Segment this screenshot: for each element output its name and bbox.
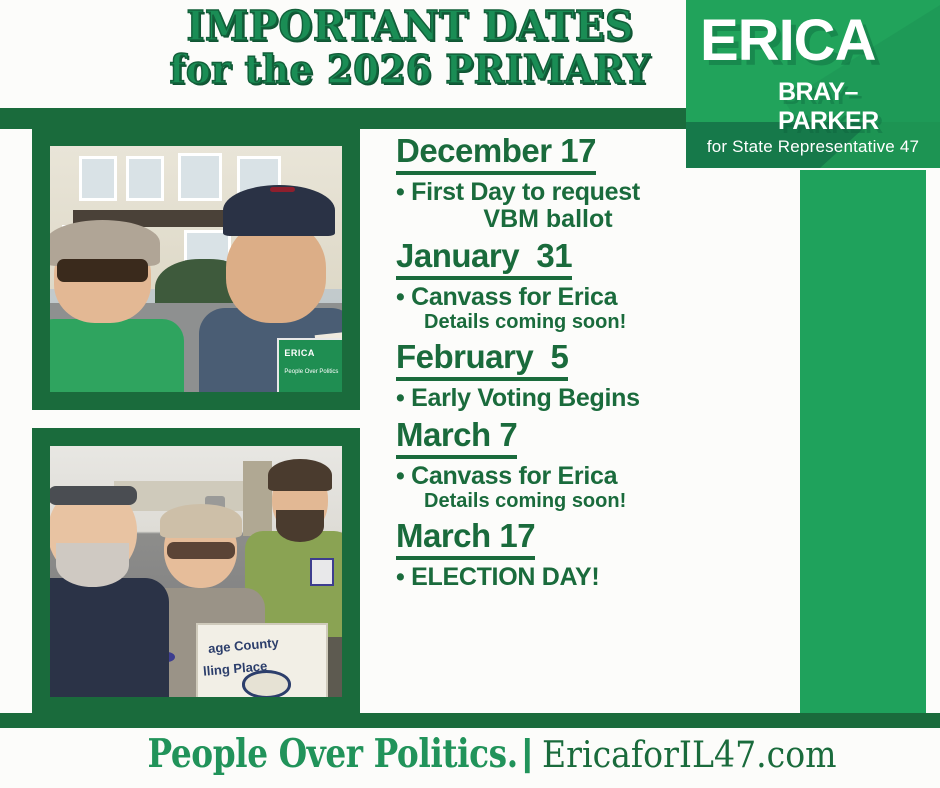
page-title: IMPORTANT DATES for the 2026 PRIMARY xyxy=(150,6,670,91)
date-detail: • Early Voting Begins xyxy=(396,384,726,412)
photo-person-woman xyxy=(50,220,184,392)
photo-hair xyxy=(160,504,242,538)
date-entry: March 17 • ELECTION DAY! xyxy=(396,517,726,591)
flyer-subtitle: People Over Politics xyxy=(284,369,338,375)
photo-frame-top: ERICA People Over Politics xyxy=(32,128,360,410)
poster-canvas: IMPORTANT DATES for the 2026 PRIMARY ERI… xyxy=(0,0,940,788)
sign-line-1: age County xyxy=(208,635,280,656)
photo-face xyxy=(226,221,326,323)
date-heading: February 5 xyxy=(396,338,568,381)
date-detail: • Canvass for Erica xyxy=(396,462,726,490)
photo-canvassers: ERICA People Over Politics xyxy=(50,146,342,392)
campaign-slogan: People Over Politics. xyxy=(148,731,518,777)
date-entry: January 31 • Canvass for Erica Details c… xyxy=(396,237,726,334)
date-note: Details coming soon! xyxy=(396,311,726,334)
date-detail: • First Day to request xyxy=(396,178,726,206)
photo-frame-bottom: age County lling Place xyxy=(32,428,360,715)
date-note: Details coming soon! xyxy=(396,490,726,513)
photo-window xyxy=(126,156,164,201)
voted-sticker-icon xyxy=(310,558,334,585)
flyer-title: ERICA xyxy=(284,348,315,358)
date-heading: March 7 xyxy=(396,416,517,459)
date-entry: December 17 • First Day to request VBM b… xyxy=(396,132,726,233)
photo-cap-logo xyxy=(270,187,295,192)
footer-divider: | xyxy=(522,732,532,774)
photo-green-shirt xyxy=(50,319,184,392)
date-detail-cont: VBM ballot xyxy=(396,205,726,233)
date-heading: March 17 xyxy=(396,517,535,560)
photo-person-left xyxy=(50,481,161,697)
photo-campaign-flyer: ERICA People Over Politics xyxy=(277,338,342,392)
photo-polling-place: age County lling Place xyxy=(50,446,342,697)
photo-navy-jacket xyxy=(50,578,169,697)
title-line-2: for the 2026 PRIMARY xyxy=(163,51,657,91)
logo-candidate-surname: BRAY–PARKER xyxy=(778,78,940,136)
campaign-website[interactable]: EricaforIL47.com xyxy=(542,735,837,776)
footer-green-bar xyxy=(0,713,940,728)
date-heading: January 31 xyxy=(396,237,572,280)
sunglasses-icon xyxy=(57,259,148,282)
date-detail: • Canvass for Erica xyxy=(396,283,726,311)
county-seal-icon xyxy=(242,670,292,697)
right-green-panel xyxy=(800,170,926,715)
eyeglasses-icon xyxy=(167,542,235,559)
polling-place-sign: age County lling Place xyxy=(196,623,328,697)
date-heading: December 17 xyxy=(396,132,596,175)
logo-candidate-name: ERICA xyxy=(700,14,932,67)
date-detail: • ELECTION DAY! xyxy=(396,563,726,591)
photo-cap xyxy=(223,185,335,236)
photo-person-man: ERICA People Over Politics xyxy=(202,185,342,392)
date-entry: March 7 • Canvass for Erica Details comi… xyxy=(396,416,726,513)
footer: People Over Politics.|EricaforIL47.com xyxy=(0,731,940,777)
photo-beard xyxy=(56,543,129,587)
photo-hair xyxy=(268,459,332,491)
header-green-bar xyxy=(0,108,686,129)
important-dates-list: December 17 • First Day to request VBM b… xyxy=(396,132,726,595)
title-line-1: IMPORTANT DATES xyxy=(163,6,657,48)
photo-window xyxy=(79,156,117,201)
date-entry: February 5 • Early Voting Begins xyxy=(396,338,726,412)
eyeglasses-icon xyxy=(50,486,137,506)
photo-beard xyxy=(276,510,324,542)
